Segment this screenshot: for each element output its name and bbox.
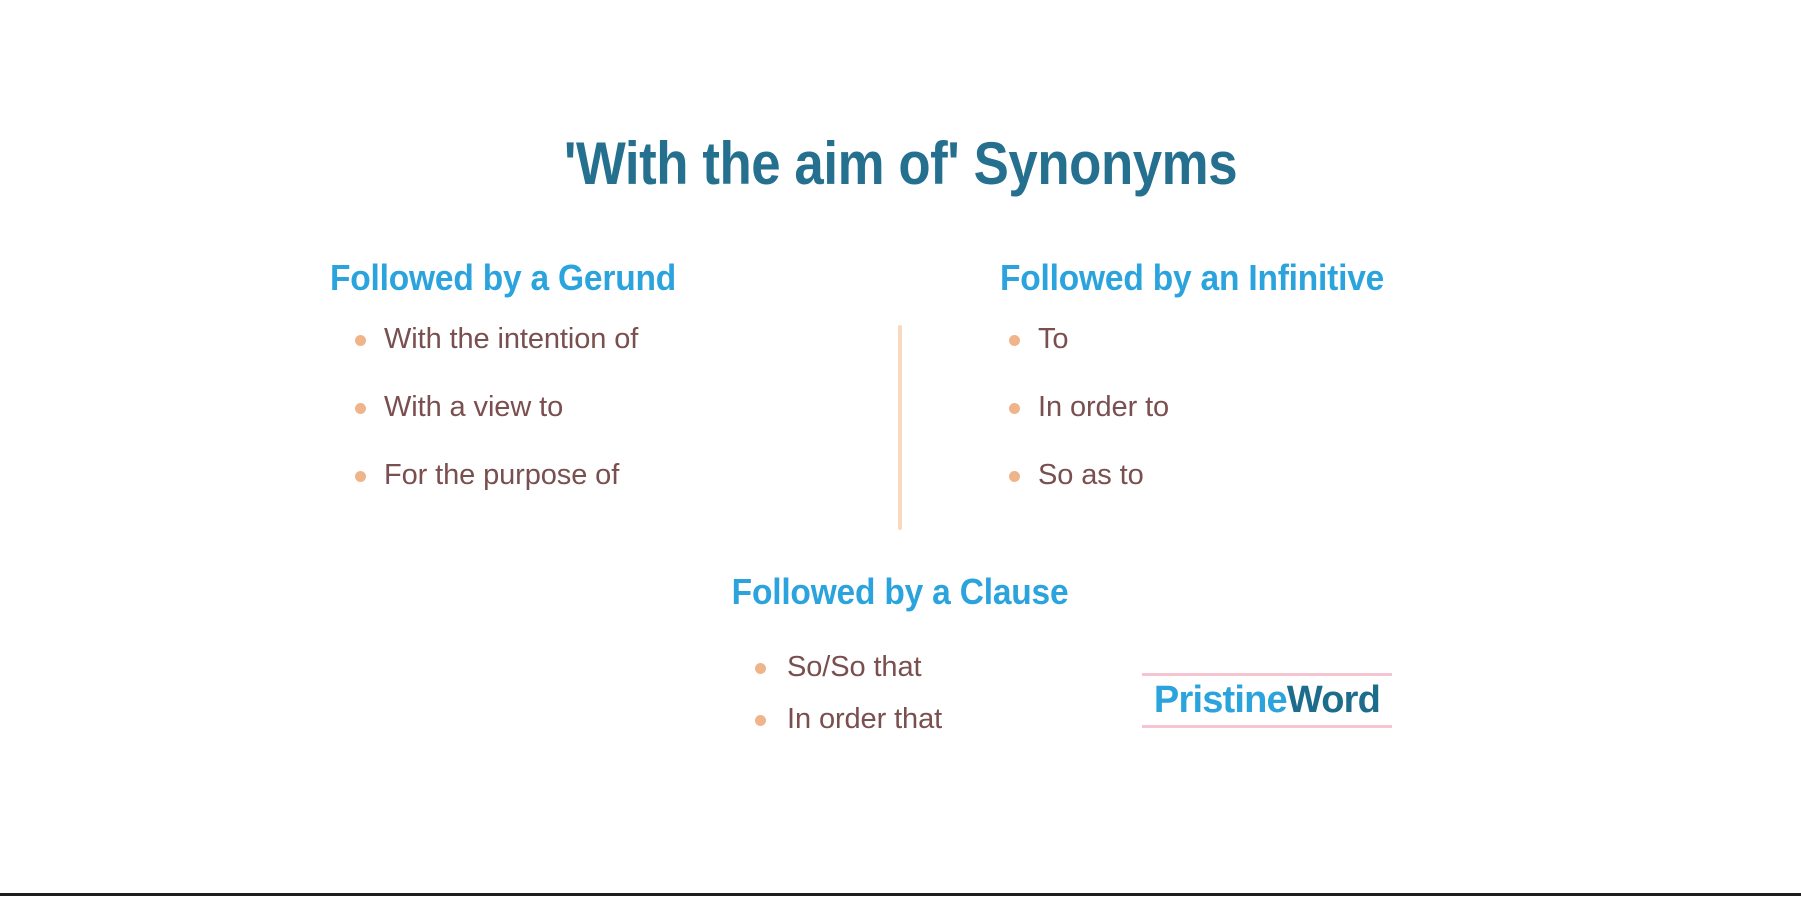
brand-logo-part-two: Word — [1287, 679, 1380, 721]
bottom-rule — [0, 893, 1801, 896]
list-item-label: With a view to — [384, 391, 563, 423]
bullet-list-gerund: With the intention of With a view to For… — [330, 324, 780, 491]
list-item: In order to — [1038, 392, 1450, 422]
list-item: For the purpose of — [384, 460, 780, 490]
column-divider — [898, 325, 902, 530]
list-item-label: For the purpose of — [384, 459, 619, 491]
list-item-label: To — [1038, 323, 1068, 355]
presentation-slide: 'With the aim of' Synonyms Followed by a… — [0, 0, 1801, 902]
bullet-list-infinitive: To In order to So as to — [1000, 324, 1450, 491]
brand-logo: PristineWord — [1142, 673, 1392, 728]
slide-title: 'With the aim of' Synonyms — [108, 132, 1693, 195]
column-heading-infinitive: Followed by an Infinitive — [1000, 258, 1419, 298]
brand-logo-text: PristineWord — [1154, 679, 1380, 721]
column-heading-gerund: Followed by a Gerund — [330, 258, 749, 298]
column-gerund: Followed by a Gerund With the intention … — [330, 258, 780, 491]
list-item-label: In order that — [787, 703, 942, 735]
list-item: With a view to — [384, 392, 780, 422]
list-item-label: In order to — [1038, 391, 1169, 423]
list-item: To — [1038, 324, 1450, 354]
list-item-label: So/So that — [787, 651, 921, 683]
list-item: So as to — [1038, 460, 1450, 490]
list-item-label: With the intention of — [384, 323, 638, 355]
column-infinitive: Followed by an Infinitive To In order to… — [1000, 258, 1450, 491]
bullet-dot-icon — [1009, 471, 1020, 482]
list-item: So/So that — [755, 652, 942, 682]
list-item: In order that — [755, 704, 942, 734]
bullet-dot-icon — [355, 471, 366, 482]
bullet-dot-icon — [755, 715, 766, 726]
bullet-dot-icon — [355, 335, 366, 346]
list-item: With the intention of — [384, 324, 780, 354]
bullet-dot-icon — [355, 403, 366, 414]
bullet-dot-icon — [1009, 403, 1020, 414]
clause-section: Followed by a Clause So/So that In order… — [0, 572, 1801, 612]
list-item-label: So as to — [1038, 459, 1144, 491]
clause-section-heading-label: Followed by a Clause — [732, 572, 1069, 612]
bullet-list-clause: So/So that In order that — [755, 652, 942, 735]
bullet-dot-icon — [755, 663, 766, 674]
brand-logo-part-one: Pristine — [1154, 679, 1287, 721]
clause-section-heading: Followed by a Clause — [0, 572, 1801, 612]
bullet-dot-icon — [1009, 335, 1020, 346]
